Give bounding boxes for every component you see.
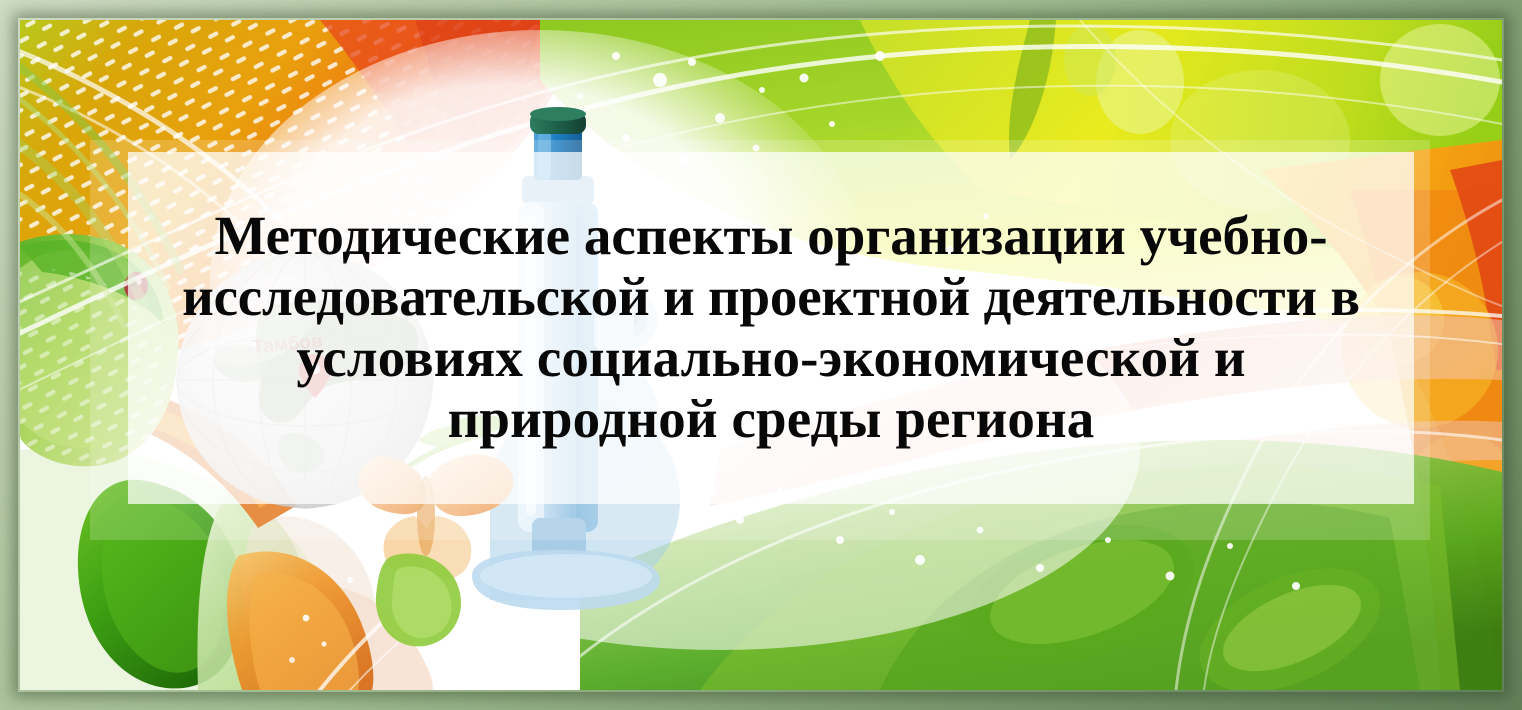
title-line-2: исследовательской и проектной деятельнос… — [182, 267, 1360, 328]
title-line-3: условиях социально-экономической и — [296, 328, 1245, 389]
title-line-1: Методические аспекты организации учебно- — [214, 206, 1327, 267]
title-line-4: природной среды региона — [448, 389, 1095, 450]
title-slide: Тамбов — [0, 0, 1522, 710]
page-title: Методические аспекты организации учебно-… — [128, 152, 1414, 504]
